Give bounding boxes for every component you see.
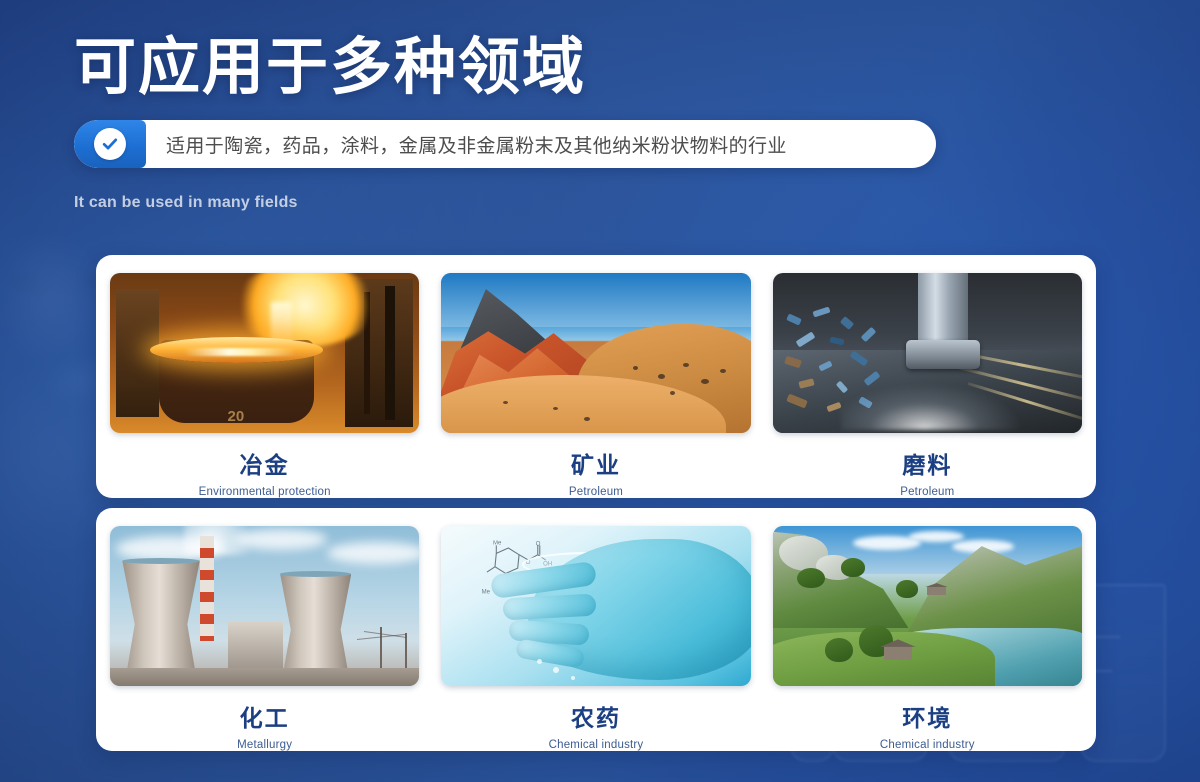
- card-mining[interactable]: 矿业 Petroleum: [441, 273, 750, 498]
- gloved-hand-petri-dish-photo: Me Me Me OH O O: [441, 526, 750, 686]
- card-subtitle: Chemical industry: [880, 739, 975, 751]
- card-thumbnail: [773, 273, 1082, 433]
- card-thumbnail: Me Me Me OH O O: [441, 526, 750, 686]
- svg-text:Me: Me: [493, 541, 502, 547]
- card-abrasives[interactable]: 磨料 Petroleum: [773, 273, 1082, 498]
- card-title: 农药: [571, 699, 621, 733]
- green-valley-lake-photo: [773, 526, 1082, 686]
- tagline-bar: 适用于陶瓷，药品，涂料，金属及非金属粉末及其他纳米粉状物料的行业: [74, 120, 936, 168]
- power-plant-cooling-towers-photo: [110, 526, 419, 686]
- page-subtitle: It can be used in many fields: [74, 194, 974, 212]
- cards-panel-row-2: 化工 Metallurgy: [96, 508, 1096, 751]
- card-title: 冶金: [240, 446, 290, 480]
- cards-panel-row-1: 20 冶金 Environmental protection: [96, 255, 1096, 498]
- card-title: 磨料: [902, 446, 952, 480]
- card-subtitle: Chemical industry: [549, 739, 644, 751]
- hut-icon: [884, 646, 912, 660]
- svg-text:O: O: [535, 542, 540, 548]
- card-environment[interactable]: 环境 Chemical industry: [773, 526, 1082, 751]
- card-subtitle: Metallurgy: [237, 739, 292, 751]
- page-header: 可应用于多种领域 适用于陶瓷，药品，涂料，金属及非金属粉末及其他纳米粉状物料的行…: [74, 36, 974, 212]
- page-title: 可应用于多种领域: [74, 36, 974, 100]
- card-metallurgy[interactable]: 20 冶金 Environmental protection: [110, 273, 419, 498]
- card-title: 矿业: [571, 446, 621, 480]
- red-ore-mountains-photo: [441, 273, 750, 433]
- tagline-text: 适用于陶瓷，药品，涂料，金属及非金属粉末及其他纳米粉状物料的行业: [146, 120, 936, 168]
- hut-icon: [927, 587, 946, 595]
- card-thumbnail: [773, 526, 1082, 686]
- card-title: 化工: [240, 699, 290, 733]
- card-subtitle: Petroleum: [900, 486, 954, 498]
- check-circle-icon: [94, 128, 126, 160]
- card-thumbnail: [110, 526, 419, 686]
- card-pesticide[interactable]: Me Me Me OH O O: [441, 526, 750, 751]
- cnc-milling-metal-chips-photo: [773, 273, 1082, 433]
- svg-text:Me: Me: [481, 590, 490, 596]
- card-thumbnail: 20: [110, 273, 419, 433]
- card-title: 环境: [902, 699, 952, 733]
- molten-metal-ladle-photo: 20: [110, 273, 419, 433]
- card-subtitle: Petroleum: [569, 486, 623, 498]
- card-chemical[interactable]: 化工 Metallurgy: [110, 526, 419, 751]
- card-thumbnail: [441, 273, 750, 433]
- tagline-badge: [74, 120, 146, 168]
- card-subtitle: Environmental protection: [199, 486, 331, 498]
